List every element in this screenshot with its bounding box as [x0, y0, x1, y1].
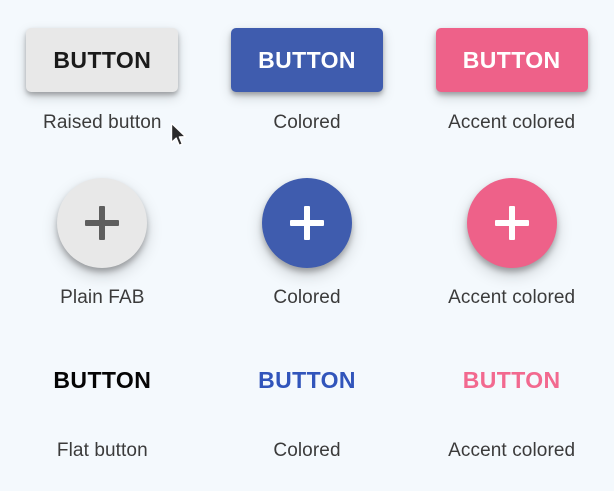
flat-button-plain[interactable]: BUTTON [45, 362, 159, 399]
raised-button-cell-plain: BUTTON Raised button [0, 28, 205, 134]
flat-button-row: BUTTON Flat button BUTTON Colored BUTTON… [0, 362, 614, 462]
fab-cell-plain: Plain FAB [0, 178, 205, 309]
flat-button-colored-caption: Colored [273, 440, 340, 462]
raised-button-row: BUTTON Raised button BUTTON Colored BUTT… [0, 28, 614, 134]
fab-cell-accent: Accent colored [409, 178, 614, 309]
flat-button-accent[interactable]: BUTTON [455, 362, 569, 399]
plus-icon [85, 206, 119, 240]
raised-button-cell-accent: BUTTON Accent colored [409, 28, 614, 134]
fab-plain[interactable] [57, 178, 147, 268]
raised-button-colored[interactable]: BUTTON [231, 28, 383, 92]
flat-button-cell-colored: BUTTON Colored [205, 362, 410, 462]
fab-cell-colored: Colored [205, 178, 410, 309]
fab-colored-caption: Colored [273, 287, 340, 309]
fab-row: Plain FAB Colored Accent colored [0, 178, 614, 309]
flat-button-accent-caption: Accent colored [448, 440, 575, 462]
raised-button-accent-caption: Accent colored [448, 112, 575, 134]
plus-icon [495, 206, 529, 240]
fab-colored[interactable] [262, 178, 352, 268]
raised-button-colored-caption: Colored [273, 112, 340, 134]
flat-button-plain-caption: Flat button [57, 440, 148, 462]
flat-button-cell-accent: BUTTON Accent colored [409, 362, 614, 462]
flat-button-colored[interactable]: BUTTON [250, 362, 364, 399]
plus-icon [290, 206, 324, 240]
raised-button-cell-colored: BUTTON Colored [205, 28, 410, 134]
raised-button-plain-caption: Raised button [43, 112, 162, 134]
button-gallery-screen: BUTTON Raised button BUTTON Colored BUTT… [0, 0, 614, 491]
fab-accent[interactable] [467, 178, 557, 268]
flat-button-cell-plain: BUTTON Flat button [0, 362, 205, 462]
fab-accent-caption: Accent colored [448, 287, 575, 309]
fab-plain-caption: Plain FAB [60, 287, 144, 309]
raised-button-accent[interactable]: BUTTON [436, 28, 588, 92]
raised-button-plain[interactable]: BUTTON [26, 28, 178, 92]
